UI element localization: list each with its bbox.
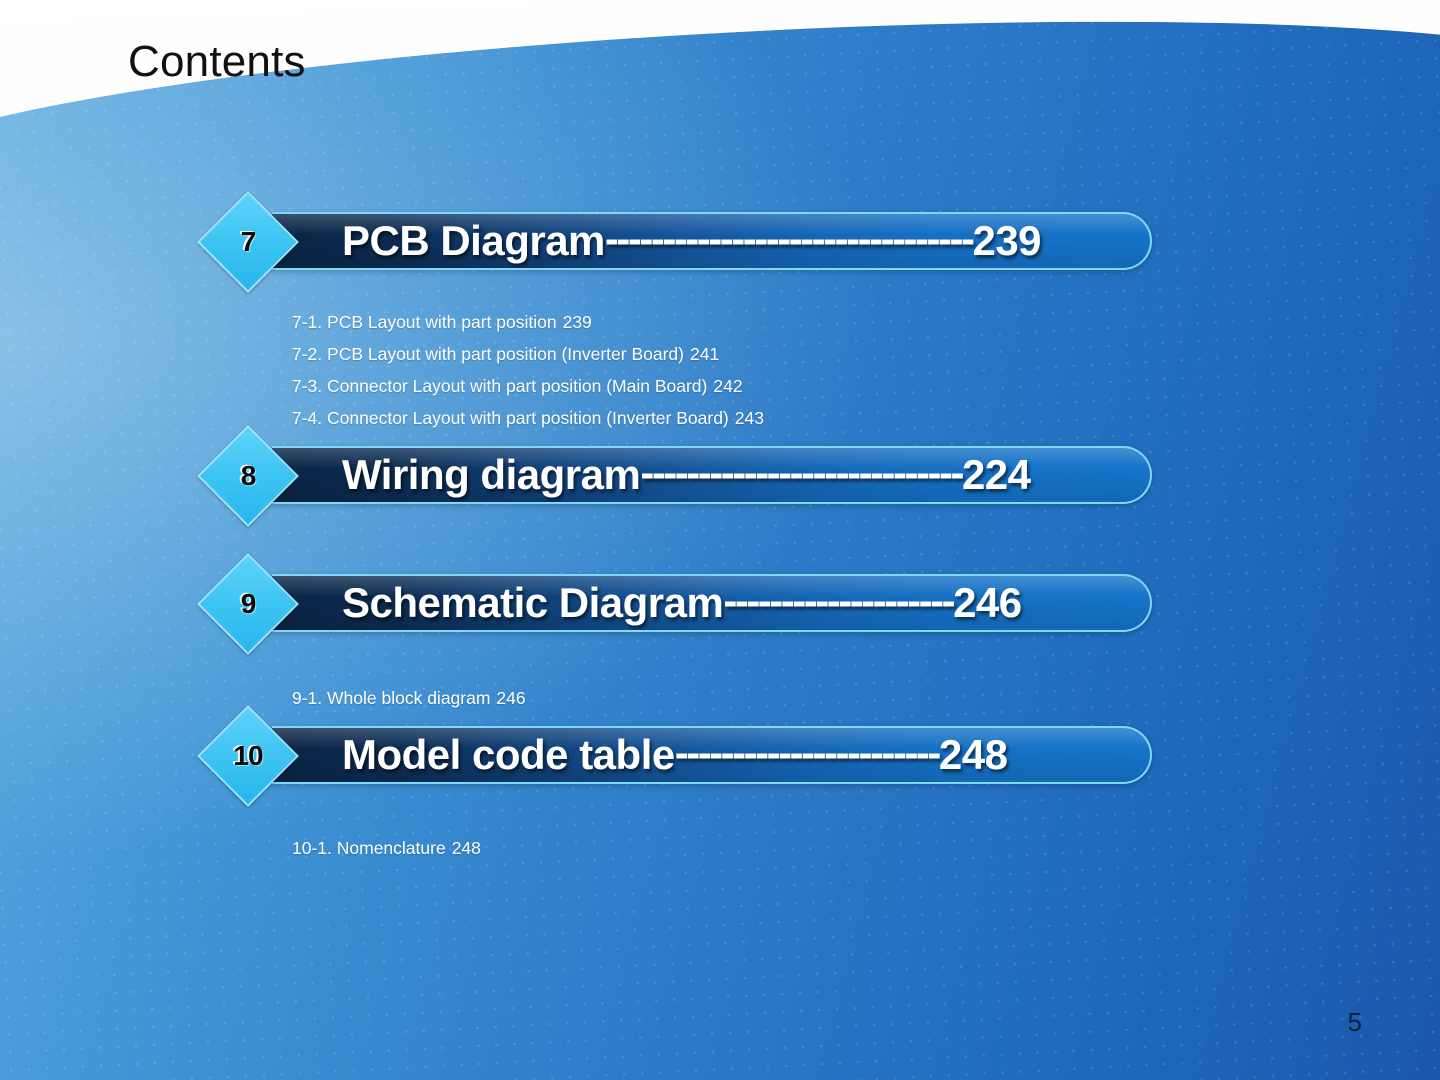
contents-section: Schematic Diagram--------------------246…: [0, 570, 1440, 642]
subitem-page-number: 241: [690, 338, 719, 370]
section-banner[interactable]: PCB Diagram-----------------------------…: [0, 208, 1440, 280]
section-leader-dashes: -----------------------: [675, 729, 939, 777]
contents-section: PCB Diagram-----------------------------…: [0, 208, 1440, 280]
subitem-label: 7-1. PCB Layout with part position: [292, 306, 557, 338]
section-banner-bar[interactable]: Schematic Diagram--------------------246: [272, 574, 1152, 632]
subitem-page-number: 242: [713, 370, 742, 402]
section-banner-bar[interactable]: PCB Diagram-----------------------------…: [272, 212, 1152, 270]
section-page-number: 239: [972, 217, 1041, 265]
section-page-number: 248: [939, 731, 1008, 779]
page-title: Contents: [128, 40, 306, 84]
slide-canvas: Contents PCB Diagram--------------------…: [0, 0, 1440, 1080]
section-banner-bar[interactable]: Model code table-----------------------2…: [272, 726, 1152, 784]
subitem-label: 7-4. Connector Layout with part position…: [292, 402, 729, 434]
subitem-label: 7-3. Connector Layout with part position…: [292, 370, 707, 402]
contents-subitem[interactable]: 10-1. Nomenclature248: [292, 832, 1440, 864]
contents-subitem[interactable]: 9-1. Whole block diagram246: [292, 682, 1440, 714]
subitem-list: 9-1. Whole block diagram246: [0, 668, 1440, 714]
section-marker-number: 7: [212, 206, 284, 278]
subitem-list: 10-1. Nomenclature248: [0, 818, 1440, 864]
section-leader-dashes: --------------------: [723, 577, 953, 625]
section-banner-content: Schematic Diagram--------------------246: [272, 579, 1022, 627]
subitem-page-number: 246: [496, 682, 525, 714]
section-marker-number: 9: [212, 568, 284, 640]
contents-section-list: PCB Diagram-----------------------------…: [0, 0, 1440, 1080]
subitem-label: 7-2. PCB Layout with part position (Inve…: [292, 338, 684, 370]
subitem-list: 7-1. PCB Layout with part position2397-2…: [0, 292, 1440, 434]
section-banner[interactable]: Model code table-----------------------2…: [0, 722, 1440, 794]
section-page-number: 224: [962, 451, 1031, 499]
section-banner-content: PCB Diagram-----------------------------…: [272, 217, 1041, 265]
contents-subitem[interactable]: 7-4. Connector Layout with part position…: [292, 402, 1440, 434]
section-page-number: 246: [953, 579, 1022, 627]
section-banner-content: Model code table-----------------------2…: [272, 731, 1007, 779]
section-marker-number: 8: [212, 440, 284, 512]
subitem-page-number: 243: [735, 402, 764, 434]
section-title: Wiring diagram: [342, 451, 640, 499]
subitem-page-number: 239: [563, 306, 592, 338]
contents-section: Wiring diagram--------------------------…: [0, 442, 1440, 514]
section-banner[interactable]: Schematic Diagram--------------------246…: [0, 570, 1440, 642]
subitem-page-number: 248: [452, 832, 481, 864]
section-subitem-group: 10-1. Nomenclature248: [0, 818, 1440, 864]
contents-subitem[interactable]: 7-1. PCB Layout with part position239: [292, 306, 1440, 338]
section-leader-dashes: ----------------------------: [640, 449, 962, 497]
subitem-label: 10-1. Nomenclature: [292, 832, 446, 864]
section-title: Model code table: [342, 731, 675, 779]
section-banner-bar[interactable]: Wiring diagram--------------------------…: [272, 446, 1152, 504]
contents-section: Model code table-----------------------2…: [0, 722, 1440, 794]
section-subitem-group: 9-1. Whole block diagram246: [0, 668, 1440, 714]
section-banner[interactable]: Wiring diagram--------------------------…: [0, 442, 1440, 514]
section-title: Schematic Diagram: [342, 579, 723, 627]
section-marker-number: 10: [212, 720, 284, 792]
slide-number: 5: [1348, 1007, 1362, 1038]
section-title: PCB Diagram: [342, 217, 605, 265]
section-banner-content: Wiring diagram--------------------------…: [272, 451, 1031, 499]
section-subitem-group: 7-1. PCB Layout with part position2397-2…: [0, 292, 1440, 434]
contents-subitem[interactable]: 7-2. PCB Layout with part position (Inve…: [292, 338, 1440, 370]
section-leader-dashes: --------------------------------: [605, 215, 973, 263]
contents-subitem[interactable]: 7-3. Connector Layout with part position…: [292, 370, 1440, 402]
subitem-label: 9-1. Whole block diagram: [292, 682, 490, 714]
